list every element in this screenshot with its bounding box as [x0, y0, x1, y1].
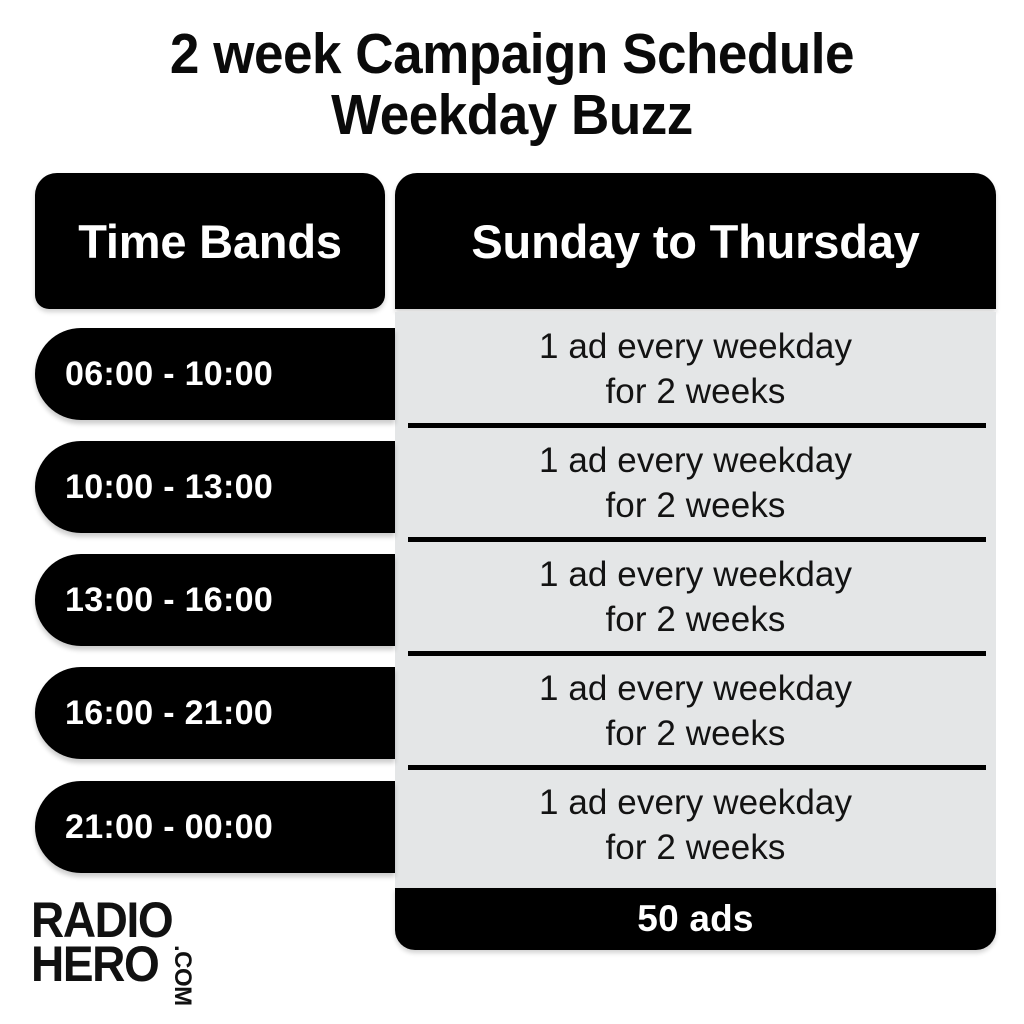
- time-band-label: 06:00 - 10:00: [35, 355, 273, 394]
- time-band-row-4: 16:00 - 21:00: [35, 667, 395, 759]
- radiohero-logo: RADIO HERO .COM: [31, 898, 261, 996]
- column-header-days: Sunday to Thursday: [395, 173, 996, 309]
- cell-line-2: for 2 weeks: [605, 825, 785, 870]
- time-band-row-1: 06:00 - 10:00: [35, 328, 395, 420]
- schedule-detail-panel: 1 ad every weekday for 2 weeks 1 ad ever…: [395, 312, 996, 888]
- total-ads-label: 50 ads: [637, 898, 753, 940]
- column-header-time-bands-label: Time Bands: [78, 214, 342, 269]
- schedule-table: Time Bands Sunday to Thursday 1 ad every…: [0, 173, 1024, 963]
- time-band-row-2: 10:00 - 13:00: [35, 441, 395, 533]
- table-cell: 1 ad every weekday for 2 weeks: [395, 540, 996, 653]
- cell-line-2: for 2 weeks: [605, 369, 785, 414]
- cell-line-2: for 2 weeks: [605, 711, 785, 756]
- cell-line-1: 1 ad every weekday: [539, 666, 852, 711]
- time-band-label: 16:00 - 21:00: [35, 694, 273, 733]
- page-title-line-2: Weekday Buzz: [36, 85, 988, 146]
- table-cell: 1 ad every weekday for 2 weeks: [395, 312, 996, 425]
- page-title-line-1: 2 week Campaign Schedule: [36, 24, 988, 85]
- time-band-label: 13:00 - 16:00: [35, 581, 273, 620]
- column-header-days-label: Sunday to Thursday: [471, 214, 919, 269]
- table-cell: 1 ad every weekday for 2 weeks: [395, 426, 996, 539]
- total-ads-bar: 50 ads: [395, 888, 996, 950]
- logo-row-hero: HERO .COM: [31, 942, 261, 988]
- cell-line-2: for 2 weeks: [605, 597, 785, 642]
- table-cell: 1 ad every weekday for 2 weeks: [395, 768, 996, 881]
- cell-line-2: for 2 weeks: [605, 483, 785, 528]
- table-cell: 1 ad every weekday for 2 weeks: [395, 654, 996, 767]
- cell-line-1: 1 ad every weekday: [539, 324, 852, 369]
- column-header-time-bands: Time Bands: [35, 173, 385, 309]
- time-band-label: 10:00 - 13:00: [35, 468, 273, 507]
- logo-suffix-com: .COM: [170, 945, 194, 1006]
- cell-line-1: 1 ad every weekday: [539, 438, 852, 483]
- cell-line-1: 1 ad every weekday: [539, 780, 852, 825]
- time-band-label: 21:00 - 00:00: [35, 808, 273, 847]
- cell-line-1: 1 ad every weekday: [539, 552, 852, 597]
- time-band-row-5: 21:00 - 00:00: [35, 781, 395, 873]
- logo-word-hero: HERO: [31, 942, 243, 986]
- table-header-row: Time Bands Sunday to Thursday: [0, 173, 1024, 311]
- page-title: 2 week Campaign Schedule Weekday Buzz: [0, 24, 1024, 146]
- time-band-row-3: 13:00 - 16:00: [35, 554, 395, 646]
